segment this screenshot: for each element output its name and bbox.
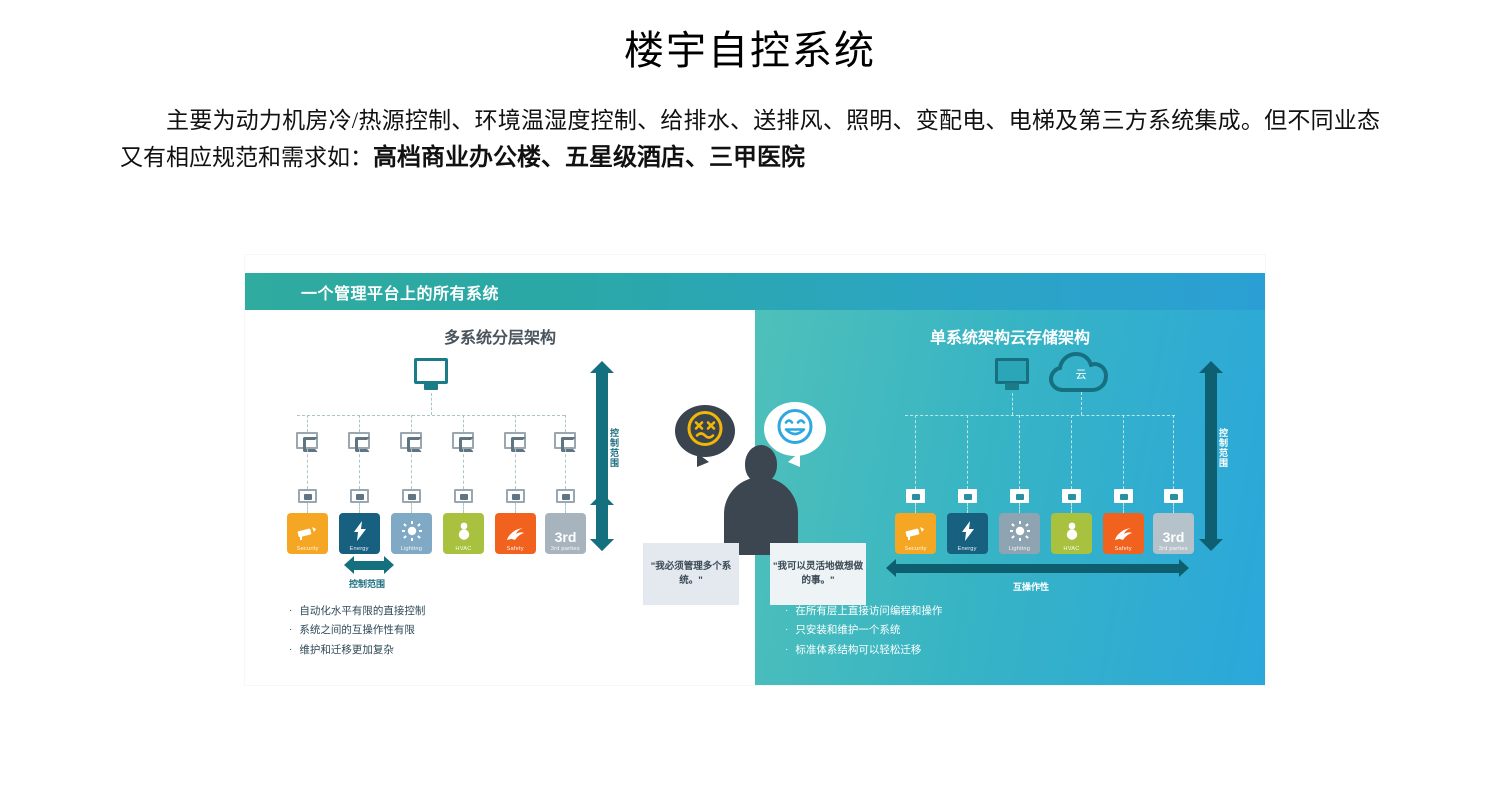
left-controller-icon [348,432,370,449]
left-bus-line [297,415,565,416]
bullet-text: 只安装和维护一个系统 [795,621,900,640]
right-device-drop [915,415,916,489]
cloud-storage-icon: 云 [1045,348,1117,396]
right-horizontal-axis-label: 互操作性 [1013,580,1049,593]
hvac-snowman-icon [1064,521,1080,544]
left-controller-drop [515,415,516,432]
list-item: ·自动化水平有限的直接控制 [289,602,425,621]
safety-flame-icon [1114,522,1134,544]
right-tile-drop [1071,503,1072,513]
lighting-bulb-icon [1010,521,1030,544]
tile-label: Security [904,546,926,552]
left-controller-drop [463,415,464,432]
right-workstation-monitor-icon [995,358,1029,384]
tile-label: HVAC [1063,546,1079,552]
left-controller-icon [296,432,318,449]
left-device-drop [565,449,566,489]
page-root: 楼宇自控系统 主要为动力机房冷/热源控制、环境温湿度控制、给排水、送排风、照明、… [0,0,1500,797]
tile-label: HVAC [455,546,471,552]
energy-bolt-icon [961,521,975,544]
right-device-drop [1019,415,1020,489]
list-item: ·标准体系结构可以轻松迁移 [785,641,942,660]
right-device-drop [1071,415,1072,489]
right-device-icon [1114,489,1133,503]
energy-bolt-icon [353,521,367,544]
left-controller-icon [554,432,576,449]
right-device-icon [1062,489,1081,503]
bullet-dot-icon: · [785,602,788,621]
left-tile-energy[interactable]: Energy [339,513,380,554]
right-tile-drop [1123,503,1124,513]
left-panel-title: 多系统分层架构 [245,324,755,348]
right-cloud-trunk-line [1081,392,1082,415]
diagram-banner-label: 一个管理平台上的所有系统 [301,280,499,304]
right-tile-drop [1173,503,1174,513]
interoperability-arrow [895,564,1180,573]
right-bus-line [905,415,1175,416]
tile-label: 3rd parties [1159,546,1188,552]
tile-label: Energy [958,546,977,552]
page-title: 楼宇自控系统 [0,18,1500,76]
bullet-text: 在所有层上直接访问编程和操作 [795,602,942,621]
right-device-drop [1173,415,1174,489]
paragraph-emphasis-text: 高档商业办公楼、五星级酒店、三甲医院 [373,144,805,171]
left-vertical-axis-label: 控制范围 [608,428,621,468]
right-tile-lighting[interactable]: Lighting [999,513,1040,554]
left-controller-icon [504,432,526,449]
list-item: ·只安装和维护一个系统 [785,621,942,640]
tile-label: Energy [350,546,369,552]
left-tile-safety[interactable]: Safety [495,513,536,554]
bullet-dot-icon: · [289,602,292,621]
right-monitor-trunk-line [1012,393,1013,415]
left-device-icon [402,489,421,503]
hvac-snowman-icon [456,521,472,544]
tile-label: Lighting [1009,546,1030,552]
left-controller-icon [452,432,474,449]
tile-label: Security [296,546,318,552]
left-tile-lighting[interactable]: Lighting [391,513,432,554]
bullet-dot-icon: · [785,621,788,640]
bullet-text: 标准体系结构可以轻松迁移 [795,641,921,660]
bullet-text: 维护和迁移更加复杂 [299,641,394,660]
right-panel-title: 单系统架构云存储架构 [755,324,1265,348]
right-tile-third-party[interactable]: 3rd 3rd parties [1153,513,1194,554]
security-camera-icon [297,525,319,544]
bullet-text: 自动化水平有限的直接控制 [299,602,425,621]
page-paragraph: 主要为动力机房冷/热源控制、环境温湿度控制、给排水、送排风、照明、变配电、电梯及… [120,103,1380,176]
architecture-diagram: 一个管理平台上的所有系统 多系统分层架构 [245,255,1265,685]
right-device-drop [1123,415,1124,489]
list-item: ·系统之间的互操作性有限 [289,621,425,640]
bullet-dot-icon: · [785,641,788,660]
svg-text:云: 云 [1076,368,1087,381]
right-device-drop [967,415,968,489]
right-tile-safety[interactable]: Safety [1103,513,1144,554]
left-controller-drop [565,415,566,432]
tile-label: Safety [507,546,524,552]
right-bullet-list: ·在所有层上直接访问编程和操作 ·只安装和维护一个系统 ·标准体系结构可以轻松迁… [785,602,942,660]
bullet-dot-icon: · [289,641,292,660]
safety-flame-icon [506,522,526,544]
right-vertical-axis-label: 控制范围 [1217,428,1230,468]
right-tile-security[interactable]: Security [895,513,936,554]
left-device-icon [506,489,525,503]
tile-label: Safety [1115,546,1132,552]
right-device-icon [1164,489,1183,503]
left-controller-drop [411,415,412,432]
left-device-icon [350,489,369,503]
left-device-icon [454,489,473,503]
right-tile-hvac[interactable]: HVAC [1051,513,1092,554]
list-item: ·在所有层上直接访问编程和操作 [785,602,942,621]
bullet-dot-icon: · [289,621,292,640]
right-control-scope-arrow [1205,372,1217,540]
left-controller-drop [307,415,308,432]
left-tile-drop [515,503,516,513]
security-camera-icon [905,525,927,544]
left-device-drop [307,449,308,489]
left-panel: 多系统分层架构 [245,310,755,685]
right-tile-drop [915,503,916,513]
left-tile-hvac[interactable]: HVAC [443,513,484,554]
left-horizontal-axis-label: 控制范围 [349,577,385,590]
right-tile-drop [1019,503,1020,513]
left-tile-drop [565,503,566,513]
lighting-bulb-icon [402,521,422,544]
left-controller-drop [359,415,360,432]
bullet-text: 系统之间的互操作性有限 [299,621,415,640]
left-control-range-arrow [353,561,385,570]
left-device-icon [298,489,317,503]
left-device-drop [411,449,412,489]
right-panel: 单系统架构云存储架构 云 [755,310,1265,685]
left-trunk-line [431,393,432,415]
left-device-icon [556,489,575,503]
left-workstation-monitor-icon [414,358,448,384]
left-tile-third-party[interactable]: 3rd 3rd parties [545,513,586,554]
right-tile-energy[interactable]: Energy [947,513,988,554]
third-party-label-icon: 3rd [555,530,577,544]
right-device-icon [906,489,925,503]
left-controller-icon [400,432,422,449]
tile-label: 3rd parties [551,546,580,552]
left-device-drop [359,449,360,489]
left-tile-drop [463,503,464,513]
left-tile-drop [307,503,308,513]
left-device-drop [463,449,464,489]
left-tile-drop [359,503,360,513]
left-device-drop [515,449,516,489]
tile-label: Lighting [401,546,422,552]
list-item: ·维护和迁移更加复杂 [289,641,425,660]
right-device-icon [958,489,977,503]
right-tile-drop [967,503,968,513]
left-bullet-list: ·自动化水平有限的直接控制 ·系统之间的互操作性有限 ·维护和迁移更加复杂 [289,602,425,660]
left-tile-scope-arrow [596,504,608,540]
left-tile-security[interactable]: Security [287,513,328,554]
left-tile-drop [411,503,412,513]
third-party-label-icon: 3rd [1163,530,1185,544]
right-device-icon [1010,489,1029,503]
